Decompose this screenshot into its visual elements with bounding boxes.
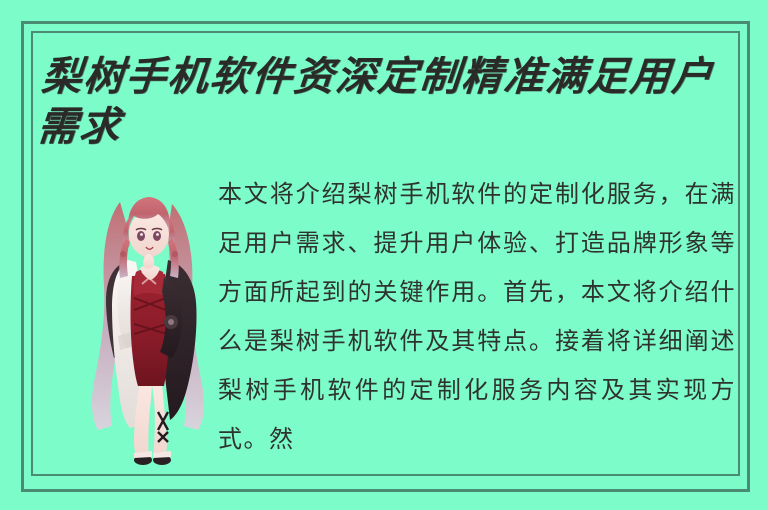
poster-canvas: 梨树手机软件资深定制精准满足用户需求	[0, 0, 768, 510]
content-area: 本文将介绍梨树手机软件的定制化服务，在满足用户需求、提升用户体验、打造品牌形象等…	[36, 168, 736, 474]
illustration-anime-girl	[72, 168, 220, 468]
body-paragraph: 本文将介绍梨树手机软件的定制化服务，在满足用户需求、提升用户体验、打造品牌形象等…	[218, 170, 736, 470]
page-title: 梨树手机软件资深定制精准满足用户需求	[35, 52, 734, 152]
